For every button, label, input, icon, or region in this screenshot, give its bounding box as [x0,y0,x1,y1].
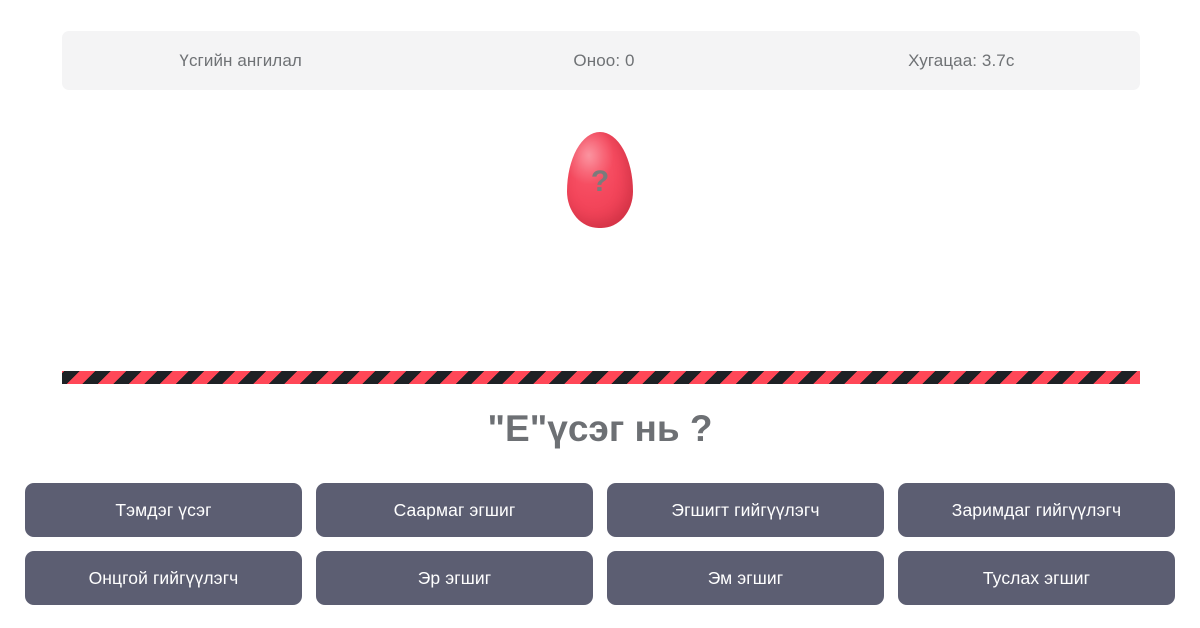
hazard-stripe-divider [62,371,1140,384]
question-text: "Е"үсэг нь ? [0,408,1200,450]
score-label: Оноо: 0 [425,51,782,71]
answer-option-4[interactable]: Заримдаг гийгүүлэгч [898,483,1175,537]
answer-option-6[interactable]: Эр эгшиг [316,551,593,605]
answer-option-2[interactable]: Саармаг эгшиг [316,483,593,537]
answer-options-grid: Тэмдэг үсэг Саармаг эгшиг Эгшигт гийгүүл… [25,483,1175,605]
answer-option-3[interactable]: Эгшигт гийгүүлэгч [607,483,884,537]
balloon-target[interactable]: ? [567,132,633,228]
answer-option-1[interactable]: Тэмдэг үсэг [25,483,302,537]
letter-category-label: Үсгийн ангилал [62,51,425,71]
timer-label: Хугацаа: 3.7с [783,51,1140,71]
balloon-area: ? [0,100,1200,250]
status-bar: Үсгийн ангилал Оноо: 0 Хугацаа: 3.7с [62,31,1140,90]
answer-option-7[interactable]: Эм эгшиг [607,551,884,605]
answer-option-5[interactable]: Онцгой гийгүүлэгч [25,551,302,605]
answer-option-8[interactable]: Туслах эгшиг [898,551,1175,605]
question-mark-icon: ? [591,167,609,197]
